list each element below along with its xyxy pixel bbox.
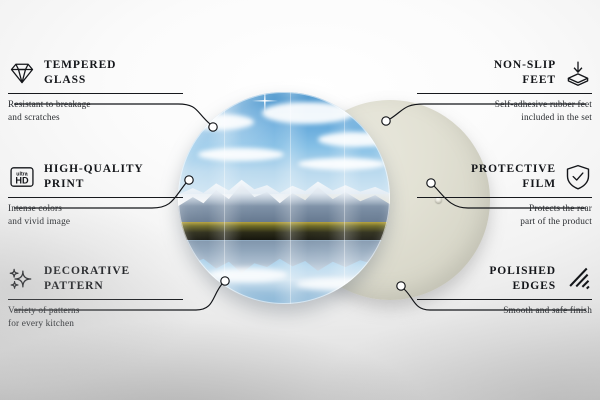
feature-title: TEMPERED GLASS <box>44 58 116 87</box>
feature-non-slip-feet: NON-SLIP FEET Self-adhesive rubber feet … <box>417 58 592 124</box>
feature-polished-edges: POLISHED EDGES Smooth and safe finish <box>417 264 592 318</box>
divider <box>417 93 592 94</box>
feature-title-line1: TEMPERED <box>44 58 116 73</box>
feature-title-line1: PROTECTIVE <box>471 162 556 177</box>
feature-title-line1: NON-SLIP <box>494 58 556 73</box>
feature-description: Smooth and safe finish <box>417 305 592 317</box>
feature-title: PROTECTIVE FILM <box>471 162 556 191</box>
glass-cutting-board-disc <box>178 92 390 304</box>
feature-title-line2: PRINT <box>44 177 144 192</box>
feature-title-line1: POLISHED <box>489 264 556 279</box>
feature-desc-line1: Intense colors <box>8 203 183 215</box>
feature-desc-line2: and scratches <box>8 112 183 124</box>
feature-title-line2: FEET <box>494 73 556 88</box>
feature-decorative-pattern: DECORATIVE PATTERN Variety of patterns f… <box>8 264 183 330</box>
divider <box>417 299 592 300</box>
feature-title-line1: DECORATIVE <box>44 264 130 279</box>
divider <box>417 197 592 198</box>
feature-description: Intense colors and vivid image <box>8 203 183 228</box>
feature-header: NON-SLIP FEET <box>417 58 592 87</box>
feature-title: NON-SLIP FEET <box>494 58 556 87</box>
feature-desc-line1: Self-adhesive rubber feet <box>417 99 592 111</box>
ultra-hd-icon-big-label: HD <box>15 175 29 185</box>
sparkles-icon <box>8 265 36 293</box>
feature-title-line1: HIGH-QUALITY <box>44 162 144 177</box>
divider <box>8 299 183 300</box>
shield-check-icon <box>564 163 592 191</box>
feature-title-line2: EDGES <box>489 279 556 294</box>
feature-title-line2: FILM <box>471 177 556 192</box>
press-down-pad-icon <box>564 59 592 87</box>
feature-desc-line1: Smooth and safe finish <box>417 305 592 317</box>
diamond-icon <box>8 59 36 87</box>
feature-header: TEMPERED GLASS <box>8 58 183 87</box>
divider <box>8 93 183 94</box>
feature-high-quality-print: ultra HD HIGH-QUALITY PRINT Intense colo… <box>8 162 183 228</box>
feature-header: ultra HD HIGH-QUALITY PRINT <box>8 162 183 191</box>
feature-tempered-glass: TEMPERED GLASS Resistant to breakage and… <box>8 58 183 124</box>
feature-title: POLISHED EDGES <box>489 264 556 293</box>
feature-description: Resistant to breakage and scratches <box>8 99 183 124</box>
ultra-hd-icon: ultra HD <box>8 163 36 191</box>
feature-protective-film: PROTECTIVE FILM Protects the rear part o… <box>417 162 592 228</box>
feature-header: PROTECTIVE FILM <box>417 162 592 191</box>
feature-title-line2: GLASS <box>44 73 116 88</box>
feature-description: Variety of patterns for every kitchen <box>8 305 183 330</box>
feature-title: HIGH-QUALITY PRINT <box>44 162 144 191</box>
divider <box>8 197 183 198</box>
feature-title-line2: PATTERN <box>44 279 130 294</box>
feature-desc-line1: Resistant to breakage <box>8 99 183 111</box>
feature-description: Protects the rear part of the product <box>417 203 592 228</box>
feature-desc-line2: and vivid image <box>8 216 183 228</box>
feature-desc-line1: Protects the rear <box>417 203 592 215</box>
feature-desc-line2: part of the product <box>417 216 592 228</box>
feature-desc-line2: for every kitchen <box>8 318 183 330</box>
feature-header: DECORATIVE PATTERN <box>8 264 183 293</box>
feature-header: POLISHED EDGES <box>417 264 592 293</box>
glass-gloss <box>178 92 390 304</box>
diagonal-stripes-icon <box>564 265 592 293</box>
feature-title: DECORATIVE PATTERN <box>44 264 130 293</box>
feature-description: Self-adhesive rubber feet included in th… <box>417 99 592 124</box>
feature-desc-line2: included in the set <box>417 112 592 124</box>
feature-desc-line1: Variety of patterns <box>8 305 183 317</box>
infographic-canvas: TEMPERED GLASS Resistant to breakage and… <box>0 0 600 400</box>
